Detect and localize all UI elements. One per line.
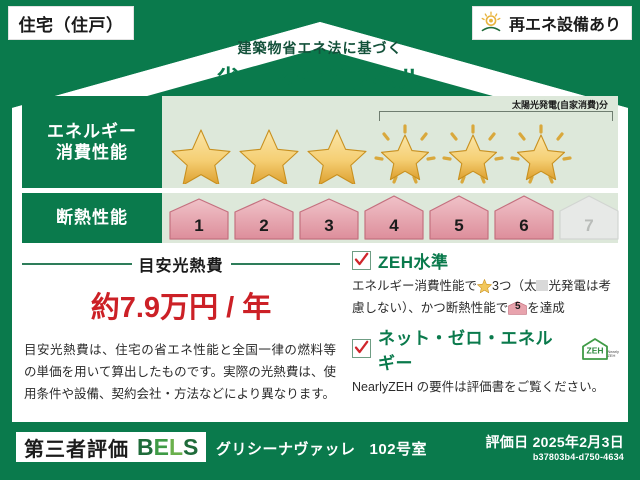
net-zero-energy-line: ネット・ゼロ・エネルギー ZEH Nearly ZEH [352,324,618,374]
bels-en-label: BELS [137,434,198,461]
rule-right [231,263,341,265]
solar-portion-caption: 太陽光発電(自家消費)分 [512,98,608,111]
zeh-desc-part1: エネルギー消費性能で [352,279,477,293]
net-zero-energy-description: NearlyZEH の要件は評価書をご覧ください。 [352,377,618,399]
renewable-equipment-label: 再エネ設備あり [509,11,621,35]
house-type-badge: 住宅（住戸） [8,6,134,40]
insulation-level-number: 4 [363,216,425,236]
utility-cost-heading-label: 目安光熱費 [139,252,224,276]
bels-badge: 第三者評価 BELS [16,432,206,462]
insulation-level-scale: 1 2 3 [168,195,620,241]
net-zero-energy-block: ネット・ゼロ・エネルギー ZEH Nearly ZEH [352,324,618,399]
insulation-performance-row: 断熱性能 1 [22,193,618,243]
evaluation-id: b37803b4-d750-4634 [533,452,624,462]
insulation-level-house: 5 [428,195,490,241]
evaluation-date-value: 2025年2月3日 [533,434,624,450]
utility-cost-panel: 目安光熱費 約7.9万円 / 年 目安光熱費は、住宅の省エネ性能と全国一律の燃料… [22,248,340,416]
net-zero-energy-title: ネット・ゼロ・エネルギー [378,324,570,374]
evaluation-date: 評価日 2025年2月3日 [485,432,624,452]
utility-cost-note: 目安光熱費は、住宅の省エネ性能と全国一律の燃料等の単価を用いて算出したものです。… [22,340,340,406]
energy-key-line1: エネルギー [47,121,137,142]
solar-star-icon [440,122,506,184]
label-content: エネルギー 消費性能 太陽光発電(自家消費)分 [22,96,618,416]
insulation-level-number: 2 [233,216,295,236]
star-icon [304,122,370,184]
solar-star-icon [372,122,438,184]
redacted-block [536,280,548,291]
zeh-desc-part3: を達成 [527,301,565,315]
certification-panel: ZEH水準 エネルギー消費性能で3つ（太光発電は考慮しない）、かつ断熱性能で5を… [340,248,618,416]
energy-key-line2: 消費性能 [56,142,128,163]
insulation-level-house: 6 [493,195,555,241]
evaluation-date-label: 評価日 [485,434,528,450]
utility-cost-value: 約7.9万円 / 年 [22,284,340,326]
property-name: グリシーナヴァッレ [216,441,356,458]
property-info: グリシーナヴァッレ102号室 [216,438,427,459]
insulation-level-house: 1 [168,197,230,241]
solar-star-icon [508,122,574,184]
lower-panel: 目安光熱費 約7.9万円 / 年 目安光熱費は、住宅の省エネ性能と全国一律の燃料… [22,248,618,416]
insulation-level-number: 3 [298,216,360,236]
zeh-standard-title: ZEH水準 [378,248,449,273]
zeh-desc-part2: 3つ（太 [492,279,536,293]
footer-bar: 第三者評価 BELS グリシーナヴァッレ102号室 評価日 2025年2月3日 … [0,422,640,480]
bels-jp-label: 第三者評価 [24,433,129,462]
rule-left [22,263,132,265]
insulation-level-house: 4 [363,195,425,241]
insulation-badge-icon: 5 [508,300,527,316]
star-icon [168,122,234,184]
insulation-level-house: 3 [298,197,360,241]
energy-performance-value: 太陽光発電(自家消費)分 [162,96,618,188]
energy-performance-row: エネルギー 消費性能 太陽光発電(自家消費)分 [22,96,618,188]
insulation-badge-number: 5 [508,298,527,316]
energy-performance-label: 住宅（住戸） 再エネ設備あり 建築物省エネ法に基づく 省エネ性能ラベル [0,0,640,480]
insulation-level-house: 2 [233,197,295,241]
insulation-level-number: 7 [558,216,620,236]
insulation-level-house-inactive: 7 [558,195,620,241]
zeh-logo-subtext: Nearly ZEH [607,350,619,359]
sun-icon [479,11,503,35]
energy-star-rating [168,122,574,184]
insulation-level-number: 6 [493,216,555,236]
renewable-equipment-badge: 再エネ設備あり [472,6,632,40]
insulation-performance-key: 断熱性能 [22,193,162,243]
insulation-level-number: 5 [428,216,490,236]
zeh-standard-description: エネルギー消費性能で3つ（太光発電は考慮しない）、かつ断熱性能で5を達成 [352,276,618,320]
insulation-key-label: 断熱性能 [56,207,128,228]
insulation-performance-value: 1 2 3 [162,193,618,243]
zeh-logo-sub2: ZEH [607,353,615,358]
solar-portion-bracket [379,111,613,121]
checkbox-checked-icon [352,251,371,270]
insulation-level-number: 1 [168,216,230,236]
checkbox-checked-icon [352,339,371,358]
room-number: 102号室 [370,441,428,458]
svg-text:ZEH: ZEH [586,345,603,355]
zeh-logo-icon: ZEH Nearly ZEH [580,337,618,361]
star-icon [236,122,302,184]
zeh-standard-line: ZEH水準 [352,248,618,273]
zeh-standard-block: ZEH水準 エネルギー消費性能で3つ（太光発電は考慮しない）、かつ断熱性能で5を… [352,248,618,320]
house-type-label: 住宅（住戸） [19,11,124,36]
star-icon [477,278,492,293]
utility-cost-heading: 目安光熱費 [22,252,340,276]
energy-performance-key: エネルギー 消費性能 [22,96,162,188]
